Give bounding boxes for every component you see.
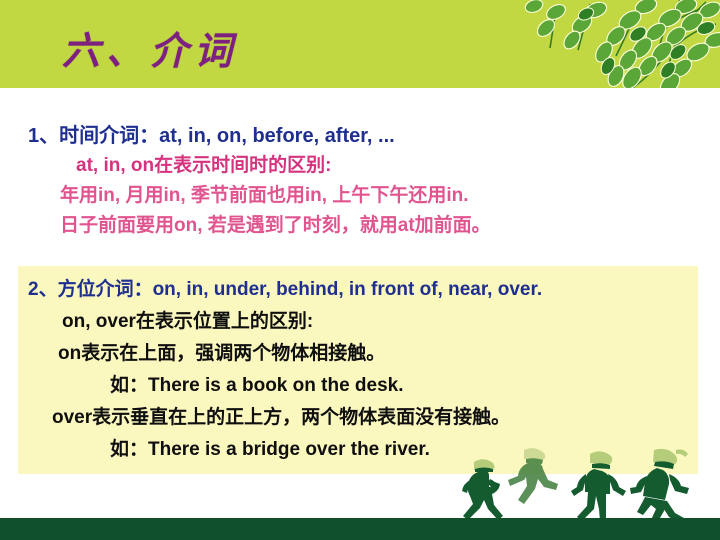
section-time-prepositions: 1、时间介词：at, in, on, before, after, ... at… bbox=[0, 88, 720, 258]
time-prepositions-subheading: at, in, on在表示时间时的区别: bbox=[76, 156, 331, 175]
place-prepositions-subheading: on, over在表示位置上的区别: bbox=[62, 312, 313, 331]
place-prepositions-heading: 2、方位介词：on, in, under, behind, in front o… bbox=[28, 280, 542, 299]
section-place-prepositions: 2、方位介词：on, in, under, behind, in front o… bbox=[18, 266, 698, 474]
slide-canvas: 六、介词 1、时间介词：at, in, on, before, after, .… bbox=[0, 0, 720, 540]
place-prepositions-example-on: 如：There is a book on the desk. bbox=[110, 376, 404, 395]
footer-bar bbox=[0, 518, 720, 540]
time-prepositions-heading: 1、时间介词：at, in, on, before, after, ... bbox=[28, 126, 395, 146]
title-banner: 六、介词 bbox=[0, 0, 720, 88]
place-prepositions-rule-over: over表示垂直在上的正上方，两个物体表面没有接触。 bbox=[52, 408, 510, 427]
time-prepositions-rule-in: 年用in, 月用in, 季节前面也用in, 上午下午还用in. bbox=[60, 186, 469, 205]
page-title: 六、介词 bbox=[62, 20, 238, 75]
place-prepositions-example-over: 如：There is a bridge over the river. bbox=[110, 440, 430, 459]
leaves-decoration-icon bbox=[520, 0, 720, 88]
place-prepositions-rule-on: on表示在上面，强调两个物体相接触。 bbox=[58, 344, 385, 363]
time-prepositions-rule-on-at: 日子前面要用on, 若是遇到了时刻，就用at加前面。 bbox=[60, 216, 491, 235]
